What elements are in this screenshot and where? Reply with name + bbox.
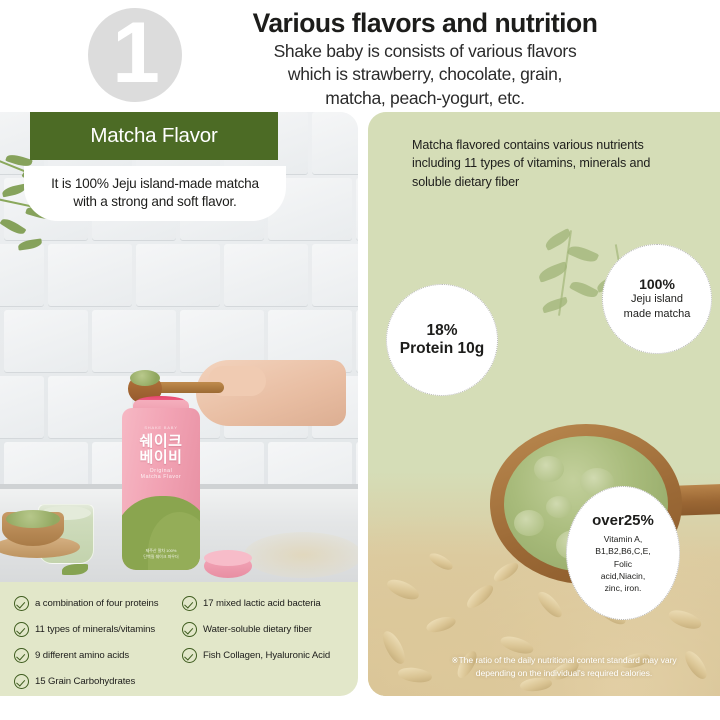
check-circle-icon bbox=[182, 622, 197, 637]
checklist-label: Water-soluble dietary fiber bbox=[203, 624, 312, 635]
checklist-label: 17 mixed lactic acid bacteria bbox=[203, 598, 321, 609]
bubble-headline: 18% bbox=[426, 322, 457, 340]
bowl-matcha-powder bbox=[6, 510, 60, 528]
checklist-item: 9 different amino acids bbox=[14, 648, 129, 663]
checklist-item: a combination of four proteins bbox=[14, 596, 158, 611]
checklist-label: Fish Collagen, Hyaluronic Acid bbox=[203, 650, 330, 661]
nutrition-intro-text: Matcha flavored contains various nutrien… bbox=[412, 136, 712, 191]
bottle-lid bbox=[204, 550, 252, 566]
checklist-item: 11 types of minerals/vitamins bbox=[14, 622, 155, 637]
nutrition-footnote: ※The ratio of the daily nutritional cont… bbox=[414, 654, 714, 680]
spoon-matcha-powder bbox=[130, 370, 160, 386]
callout-bubble-vitamins: over25% Vitamin A, B1,B2,B6,C,E, Folic a… bbox=[566, 486, 680, 620]
infographic-page: 1 Various flavors and nutrition Shake ba… bbox=[0, 0, 720, 720]
bubble-headline: 100% bbox=[639, 276, 675, 292]
bubble-headline: over25% bbox=[592, 512, 654, 529]
checklist-label: a combination of four proteins bbox=[35, 598, 158, 609]
bottle-flavor-en: Original Matcha Flavor bbox=[122, 468, 200, 480]
checklist-label: 11 types of minerals/vitamins bbox=[35, 624, 155, 635]
check-circle-icon bbox=[182, 648, 197, 663]
bubble-body: Jeju island made matcha bbox=[624, 292, 691, 322]
flavor-banner: Matcha Flavor bbox=[30, 112, 278, 160]
check-circle-icon bbox=[14, 622, 29, 637]
right-nutrition-panel: Matcha flavored contains various nutrien… bbox=[368, 112, 720, 696]
bubble-body: Protein 10g bbox=[400, 340, 484, 358]
callout-bubble-jeju-matcha: 100% Jeju island made matcha bbox=[602, 244, 712, 354]
checklist-label: 9 different amino acids bbox=[35, 650, 129, 661]
bottle-bottom-text: 제주산 말차 100% 단백질 쉐이크 파우더 bbox=[128, 548, 194, 560]
checklist-item: 15 Grain Carbohydrates bbox=[14, 674, 135, 689]
check-circle-icon bbox=[14, 648, 29, 663]
callout-bubble-protein: 18% Protein 10g bbox=[386, 284, 498, 396]
check-circle-icon bbox=[14, 674, 29, 689]
checklist-item: Fish Collagen, Hyaluronic Acid bbox=[182, 648, 330, 663]
step-number-badge: 1 bbox=[88, 8, 182, 102]
check-circle-icon bbox=[14, 596, 29, 611]
spoon-handle bbox=[152, 382, 224, 393]
checklist-label: 15 Grain Carbohydrates bbox=[35, 676, 135, 687]
bottle-brand-top: SHAKE BABY bbox=[122, 425, 200, 430]
checklist-item: Water-soluble dietary fiber bbox=[182, 622, 312, 637]
page-subtitle: Shake baby is consists of various flavor… bbox=[190, 40, 660, 110]
page-title: Various flavors and nutrition bbox=[190, 8, 660, 39]
bubble-body: Vitamin A, B1,B2,B6,C,E, Folic acid,Niac… bbox=[595, 533, 650, 594]
powder-spill bbox=[244, 532, 358, 578]
product-bottle: SHAKE BABY 쉐이크 베이비 Original Matcha Flavo… bbox=[122, 408, 200, 570]
bottle-name-kr: 쉐이크 베이비 bbox=[122, 434, 200, 466]
step-number-label: 1 bbox=[112, 10, 158, 96]
left-flavor-panel: SHAKE BABY 쉐이크 베이비 Original Matcha Flavo… bbox=[0, 112, 358, 696]
header-section: 1 Various flavors and nutrition Shake ba… bbox=[0, 0, 720, 110]
flavor-description-pill: It is 100% Jeju island-made matcha with … bbox=[24, 166, 286, 221]
check-circle-icon bbox=[182, 596, 197, 611]
checklist-item: 17 mixed lactic acid bacteria bbox=[182, 596, 321, 611]
flavor-banner-label: Matcha Flavor bbox=[90, 124, 217, 148]
benefits-checklist: a combination of four proteins 17 mixed … bbox=[0, 582, 358, 696]
